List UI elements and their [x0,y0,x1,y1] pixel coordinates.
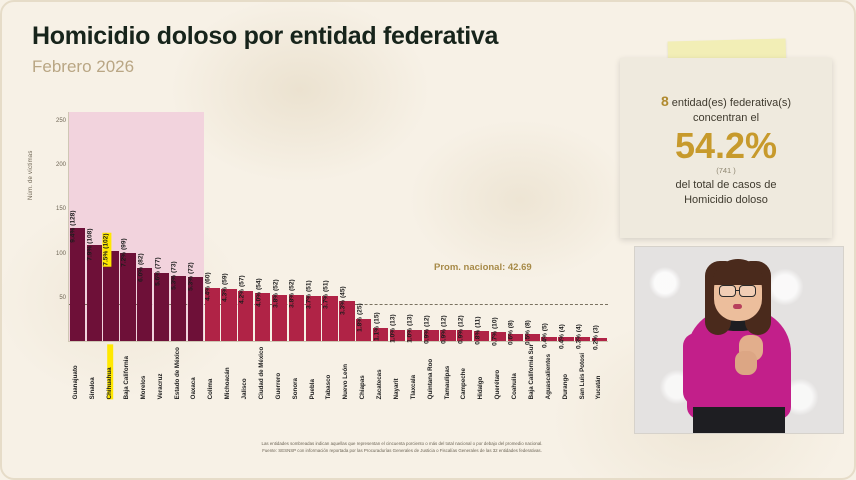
bar[interactable]: 3.8% (52) [289,295,304,341]
bar[interactable]: 1.8% (25) [356,319,371,341]
x-label-slot: Tabasco [321,344,338,399]
bar-slot: 0.8% (11) [473,112,490,341]
x-axis-category-label: Yucatán [596,344,602,399]
x-label-slot: Tamaulipas [439,344,456,399]
callout-percent: 54.2% [675,128,777,164]
bar[interactable]: 4.0% (54) [255,293,270,341]
bar[interactable]: 5.3% (72) [188,277,203,341]
bar-slot: 7.5% (102) [103,112,120,341]
x-axis-labels: GuanajuatoSinaloaChihuahuaBaja Californi… [68,344,608,399]
x-axis-category-label: Campeche [461,344,467,399]
national-average-label: Prom. nacional: 42.69 [434,262,532,273]
interpreter-hand-lower [735,351,757,375]
bar-value-label: 3.7% (51) [307,281,314,310]
bar-slot: 3.7% (51) [305,112,322,341]
plot-area: 9.4% (128)7.9% (108)7.5% (102)7.2% (99)6… [68,112,608,342]
bar[interactable]: 3.8% (52) [272,295,287,341]
bar-slot: 1.1% (15) [372,112,389,341]
bar-value-label: 0.6% (8) [509,320,516,345]
bar-slot: 0.7% (10) [490,112,507,341]
x-label-slot: Colima [203,344,220,399]
x-axis-category-label: Veracruz [158,344,164,399]
x-label-slot: Yucatán [591,344,608,399]
page-subtitle: Febrero 2026 [32,57,498,77]
x-label-slot: Veracruz [152,344,169,399]
x-label-slot: Aguascalientes [541,344,558,399]
footnote: Las entidades sombreadas indican aquella… [196,441,608,454]
bar-slot: 1.0% (13) [406,112,423,341]
x-label-slot: Sonora [287,344,304,399]
bar-value-label: 7.9% (108) [88,228,95,260]
x-label-slot: Oaxaca [186,344,203,399]
bar-value-label: 6.0% (82) [138,253,145,282]
x-label-slot: Baja California Sur [524,344,541,399]
bar[interactable]: 1.0% (13) [390,330,405,342]
x-label-slot: Nuevo León [338,344,355,399]
bar[interactable]: 5.6% (77) [154,273,169,341]
x-label-slot: Quintana Roo [422,344,439,399]
bar-slot: 4.2% (57) [237,112,254,341]
bar-value-label: 3.3% (45) [340,286,347,315]
x-axis-category-label: Colima [208,344,214,399]
sign-language-video[interactable] [634,246,844,434]
bar[interactable]: 9.4% (128) [70,228,85,341]
x-label-slot: Hidalgo [473,344,490,399]
bar-slot: 0.9% (12) [456,112,473,341]
bar-value-label: 9.4% (128) [71,211,78,243]
x-label-slot: Coahuila [507,344,524,399]
bar[interactable]: 1.1% (15) [373,328,388,341]
bar[interactable]: 3.3% (45) [339,301,354,341]
callout-line-2: concentran el [693,112,759,124]
x-axis-category-label: Tamaulipas [445,344,451,399]
y-axis-tick: 200 [56,162,66,168]
callout-count: 8 [661,93,669,109]
x-label-slot: Nayarit [389,344,406,399]
bar[interactable]: 6.0% (82) [137,268,152,341]
callout-count-suffix: entidad(es) federativa(s) [669,97,791,109]
x-axis-category-label: Guerrero [276,344,282,399]
bar-value-label: 0.8% (11) [475,316,482,344]
x-axis-category-label: Ciudad de México [259,344,265,399]
bar[interactable]: 0.4% (5) [541,337,556,341]
x-label-slot: Querétaro [490,344,507,399]
bar-value-label: 5.6% (77) [155,258,162,287]
x-axis-category-label: Jalisco [242,344,248,399]
bar-value-label: 0.5% (8) [526,320,533,345]
bar[interactable]: 0.8% (11) [474,331,489,341]
bar-slot: 7.9% (108) [86,112,103,341]
x-axis-category-label: Baja California [124,344,130,399]
x-axis-category-label: Durango [563,344,569,399]
bar-value-label: 0.9% (12) [425,315,432,344]
x-label-slot: Chihuahua [102,344,119,399]
x-axis-category-label: Michoacán [225,344,231,399]
bar[interactable]: 0.5% (8) [525,334,540,341]
bar[interactable]: 5.3% (73) [171,276,186,341]
bar-slot: 6.0% (82) [136,112,153,341]
x-axis-category-label: Hidalgo [478,344,484,399]
bar-value-label: 4.2% (57) [239,275,246,304]
bar[interactable]: 0.6% (8) [508,334,523,341]
x-label-slot: Baja California [119,344,136,399]
header: Homicidio doloso por entidad federativa … [32,22,498,77]
callout-absolute: (741 ) [716,166,736,175]
x-label-slot: Puebla [304,344,321,399]
bar[interactable]: 0.2% (3) [592,338,607,341]
bar-slot: 5.6% (77) [153,112,170,341]
interpreter-mouth [733,304,742,309]
interpreter-pants [693,407,785,433]
x-axis-category-label: Sinaloa [90,344,96,399]
y-axis-title: Núm. de víctimas [28,150,34,200]
bar[interactable]: 3.7% (51) [322,296,337,341]
x-label-slot: San Luis Potosí [574,344,591,399]
x-axis-category-label: Baja California Sur [529,344,535,399]
bar-slot: 0.9% (12) [440,112,457,341]
bar[interactable]: 1.0% (13) [407,330,422,342]
bar-slot: 0.4% (4) [557,112,574,341]
x-axis-category-label: Tlaxcala [411,344,417,399]
bar-chart: Núm. de víctimas 50100150200250 9.4% (12… [30,112,610,367]
footnote-line-1: Las entidades sombreadas indican aquella… [196,441,608,448]
bar-value-label: 3.8% (52) [290,280,297,309]
bar-value-label: 0.9% (12) [458,315,465,344]
bar[interactable]: 0.9% (12) [457,330,472,341]
x-label-slot: Campeche [456,344,473,399]
bar-value-label: 0.9% (12) [441,315,448,344]
bar-slot: 5.3% (73) [170,112,187,341]
x-label-slot: Zacatecas [372,344,389,399]
x-axis-category-label: Coahuila [512,344,518,399]
bar-slot: 5.3% (72) [187,112,204,341]
x-label-slot: Durango [557,344,574,399]
footnote-line-2: Fuente: SESNSP con información reportada… [196,448,608,455]
x-axis-category-label: Puebla [310,344,316,399]
bar-value-label: 1.8% (25) [357,304,364,333]
glasses-left-lens-icon [719,285,736,297]
x-label-slot: Chiapas [355,344,372,399]
bar-slot: 0.4% (5) [541,112,558,341]
y-axis-tick: 50 [59,295,66,301]
x-axis-category-label: Morelos [141,344,147,399]
x-label-slot: Tlaxcala [406,344,423,399]
bar-slot: 3.8% (52) [271,112,288,341]
summary-callout: 8 entidad(es) federativa(s) concentran e… [620,58,832,238]
bar[interactable]: 0.3% (4) [575,337,590,341]
y-axis-ticks: 50100150200250 [40,112,66,342]
glasses-bridge-icon [736,290,740,291]
glasses-right-lens-icon [739,285,756,297]
page-title: Homicidio doloso por entidad federativa [32,22,498,51]
x-label-slot: Sinaloa [85,344,102,399]
x-axis-category-label: Sonora [293,344,299,399]
x-label-slot: Morelos [136,344,153,399]
bar-value-label: 3.8% (52) [273,280,280,309]
bar-slot: 1.8% (25) [355,112,372,341]
callout-line-1: 8 entidad(es) federativa(s) [661,92,791,111]
x-axis-category-label: Tabasco [326,344,332,399]
x-axis-category-label: Aguascalientes [546,344,552,399]
bar-value-label: 3.7% (51) [323,281,330,310]
x-axis-category-label: Oaxaca [191,344,197,399]
bar-value-label: 7.2% (99) [121,238,128,267]
bar-value-label: 0.7% (10) [492,317,499,346]
bar[interactable]: 0.9% (12) [424,330,439,341]
bar-slot: 4.4% (60) [204,112,221,341]
bar[interactable]: 3.7% (51) [306,296,321,341]
callout-line-4: Homicidio doloso [684,193,768,208]
x-label-slot: Michoacán [220,344,237,399]
x-label-slot: Guanajuato [68,344,85,399]
bar-value-label: 4.0% (54) [256,278,263,307]
bar[interactable]: 7.2% (99) [120,253,135,341]
bar[interactable]: 0.9% (12) [440,330,455,341]
bar-value-label: 1.1% (15) [374,312,381,341]
bar-slot: 0.9% (12) [423,112,440,341]
x-axis-category-label: Nayarit [394,344,400,399]
bar-slot: 0.3% (4) [574,112,591,341]
bar[interactable]: 7.9% (108) [87,245,102,341]
bar-slot: 4.0% (54) [254,112,271,341]
bar[interactable]: 4.2% (57) [238,291,253,341]
bar-value-label: 7.5% (102) [103,233,112,267]
x-axis-category-label: San Luis Potosí [580,344,586,399]
bar-slot: 1.0% (13) [389,112,406,341]
callout-card: 8 entidad(es) federativa(s) concentran e… [620,58,832,238]
bar-slot: 3.3% (45) [339,112,356,341]
x-label-slot: Ciudad de México [254,344,271,399]
bar[interactable]: 0.7% (10) [491,332,506,341]
x-label-slot: Jalisco [237,344,254,399]
bar-value-label: 4.4% (60) [206,273,213,302]
x-axis-category-label: Estado de México [175,344,181,399]
bar[interactable]: 7.5% (102) [103,251,118,341]
bar[interactable]: 4.3% (59) [221,289,236,341]
y-axis-tick: 100 [56,251,66,257]
bar-slot: 9.4% (128) [69,112,86,341]
x-label-slot: Guerrero [271,344,288,399]
bar-series: 9.4% (128)7.9% (108)7.5% (102)7.2% (99)6… [69,112,608,341]
x-axis-category-label: Guanajuato [73,344,79,399]
bar-value-label: 1.0% (13) [391,314,398,343]
callout-line-3: del total de casos de [676,178,777,193]
bar-value-label: 4.3% (59) [222,274,229,303]
bar-value-label: 5.3% (73) [172,261,179,290]
x-axis-category-label: Chiapas [360,344,366,399]
bar-slot: 0.2% (3) [591,112,608,341]
x-axis-category-label: Querétaro [495,344,501,399]
bar[interactable]: 0.4% (4) [558,337,573,341]
x-axis-category-label: Zacatecas [377,344,383,399]
x-axis-category-label: Nuevo León [343,344,349,399]
bar-value-label: 5.3% (72) [189,262,196,291]
bar-slot: 7.2% (99) [120,112,137,341]
y-axis-tick: 250 [56,118,66,124]
bar[interactable]: 4.4% (60) [205,288,220,341]
bar-slot: 0.5% (8) [524,112,541,341]
x-axis-category-label: Chihuahua [107,344,113,399]
bar-value-label: 1.0% (13) [408,314,415,343]
bar-slot: 0.6% (8) [507,112,524,341]
bar-slot: 3.7% (51) [322,112,339,341]
bar-slot: 3.8% (52) [288,112,305,341]
bar-slot: 4.3% (59) [221,112,238,341]
x-label-slot: Estado de México [169,344,186,399]
x-axis-category-label: Quintana Roo [428,344,434,399]
y-axis-tick: 150 [56,206,66,212]
